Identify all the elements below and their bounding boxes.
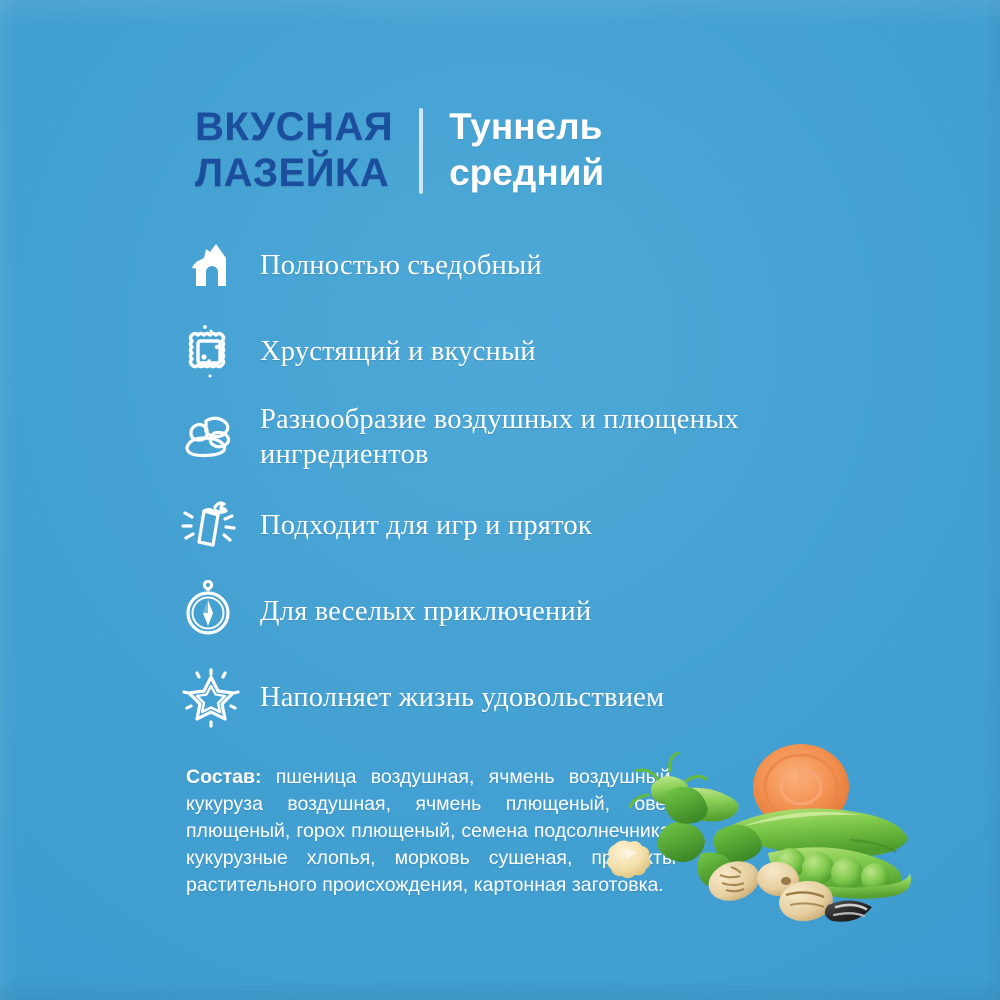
cracker-icon [176,314,260,388]
grain-flakes-icon [176,400,260,474]
feature-item: Наполняет жизнь удовольствием [176,660,826,734]
feature-label: Хрустящий и вкусный [260,334,536,369]
feature-label: Подходит для игр и пряток [260,508,592,543]
feature-label: Для веселых приключений [260,594,591,629]
brand-title: ВКУСНАЯ ЛАЗЕЙКА [195,104,419,196]
feature-item: Разнообразие воздушных и плющеных ингред… [176,400,826,474]
feature-label: Наполняет жизнь удовольствием [260,680,664,715]
compass-icon [176,574,260,648]
house-tunnel-icon [176,228,260,302]
sparkle-star-icon [176,660,260,734]
feature-item: Хрустящий и вкусный [176,314,826,388]
product-poster: ВКУСНАЯ ЛАЗЕЙКА Туннель средний Полность… [0,0,1000,1000]
feature-item: Для веселых приключений [176,574,826,648]
feature-label: Полностью съедобный [260,248,542,283]
popcorn-piece [607,841,651,879]
product-title: Туннель средний [423,104,604,196]
food-photo [600,735,1000,935]
feature-item: Подходит для игр и пряток [176,488,826,562]
ingredients-label: Состав: [186,766,261,788]
feature-label: Разнообразие воздушных и плющеных ингред… [260,402,739,472]
poster-header: ВКУСНАЯ ЛАЗЕЙКА Туннель средний [195,104,604,196]
tube-play-icon [176,488,260,562]
feature-item: Полностью съедобный [176,228,826,302]
sunflower-seed [825,900,872,921]
feature-list: Полностью съедобный Хрустящий и [176,228,826,746]
